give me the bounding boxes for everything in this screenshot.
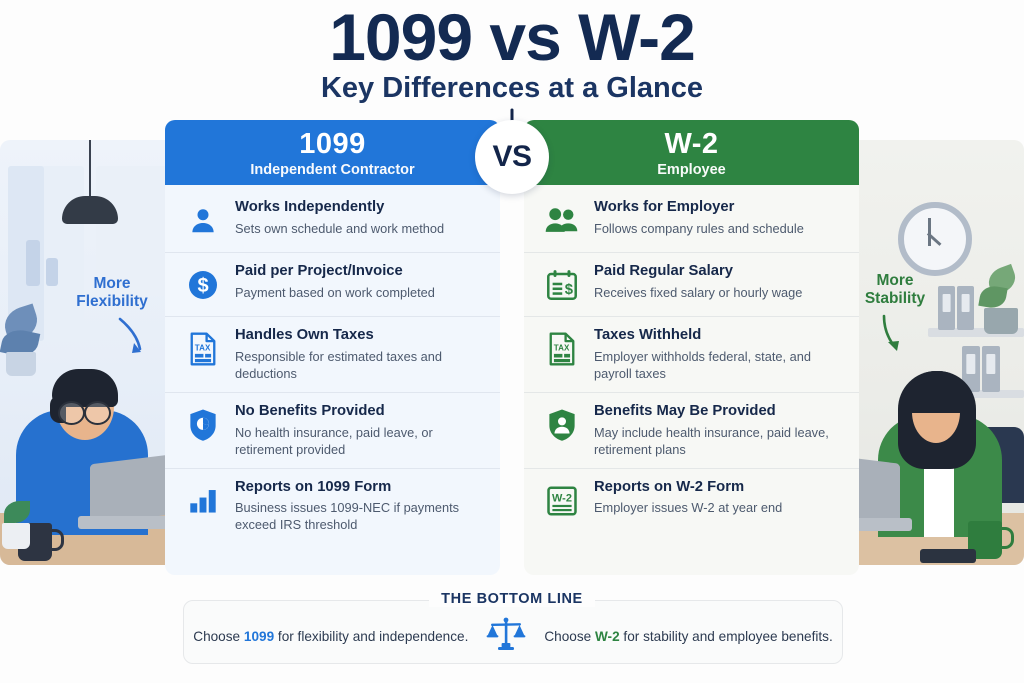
list-item-desc: Business issues 1099-NEC if payments exc… — [235, 499, 486, 533]
list-item[interactable]: Reports on 1099 Form Business issues 109… — [165, 468, 500, 544]
svg-text:W-2: W-2 — [552, 492, 572, 504]
column-role: Employee — [657, 162, 726, 178]
list-item-title: Reports on W-2 Form — [594, 479, 845, 497]
column-header-w2: W-2 Employee — [524, 120, 859, 185]
title-block: 1099 vs W-2 Key Differences at a Glance — [0, 4, 1024, 105]
column-role: Independent Contractor — [250, 162, 414, 178]
annotation-more-stability: More Stability — [845, 272, 945, 308]
arrow-down-left-icon — [112, 315, 152, 359]
feature-list-w2: Works for Employer Follows company rules… — [524, 185, 859, 575]
list-item[interactable]: TAX Taxes Withheld Employer withholds fe… — [524, 316, 859, 392]
svg-text:TAX: TAX — [554, 344, 570, 353]
column-header-1099: 1099 Independent Contractor — [165, 120, 500, 185]
feature-list-1099: Works Independently Sets own schedule an… — [165, 185, 500, 575]
list-item-title: Benefits May Be Provided — [594, 403, 845, 421]
list-item-title: Works Independently — [235, 199, 486, 217]
list-item-title: Paid per Project/Invoice — [235, 263, 486, 281]
column-1099: 1099 Independent Contractor Works Indepe… — [165, 120, 500, 575]
annotation-more-flexibility: More Flexibility — [62, 275, 162, 311]
vs-label: VS — [492, 140, 531, 174]
list-item-title: Reports on 1099 Form — [235, 479, 486, 497]
vs-badge: VS — [475, 120, 549, 194]
list-item[interactable]: No Benefits Provided No health insurance… — [165, 392, 500, 468]
binder-icon — [957, 286, 974, 330]
list-item-title: Works for Employer — [594, 199, 845, 217]
highlight-w2: W-2 — [595, 629, 620, 644]
list-item[interactable]: $ Paid per Project/Invoice Payment based… — [165, 252, 500, 316]
dollar-circle-icon: $ — [181, 264, 225, 306]
illustration-employee — [846, 140, 1024, 565]
page-subtitle: Key Differences at a Glance — [0, 73, 1024, 105]
list-item[interactable]: W-2 Reports on W-2 Form Employer issues … — [524, 468, 859, 532]
infographic-canvas: 1099 vs W-2 Key Differences at a Glance — [0, 0, 1024, 683]
tax-document-icon: TAX — [181, 328, 225, 370]
list-item[interactable]: Works for Employer Follows company rules… — [524, 189, 859, 252]
bottom-line-heading: THE BOTTOM LINE — [183, 590, 841, 608]
list-item-desc: Employer withholds federal, state, and p… — [594, 348, 845, 382]
svg-text:$: $ — [565, 282, 574, 298]
scales-icon — [486, 614, 526, 659]
list-item-desc: Employer issues W-2 at year end — [594, 499, 845, 516]
two-people-icon — [540, 200, 584, 242]
list-item-title: Handles Own Taxes — [235, 327, 486, 345]
list-item-title: Paid Regular Salary — [594, 263, 845, 281]
lamp-cord-icon — [89, 140, 91, 198]
arrow-down-right-icon — [878, 313, 918, 357]
list-item-desc: Sets own schedule and work method — [235, 220, 486, 237]
person-icon — [181, 200, 225, 242]
svg-text:TAX: TAX — [195, 344, 211, 353]
column-code: W-2 — [664, 130, 718, 159]
list-item-desc: Responsible for estimated taxes and dedu… — [235, 348, 486, 382]
list-item-title: Taxes Withheld — [594, 327, 845, 345]
shield-person-icon — [540, 404, 584, 446]
list-item[interactable]: Benefits May Be Provided May include hea… — [524, 392, 859, 468]
highlight-1099: 1099 — [244, 629, 274, 644]
svg-text:$: $ — [197, 275, 208, 297]
list-item[interactable]: TAX Handles Own Taxes Responsible for es… — [165, 316, 500, 392]
page-title: 1099 vs W-2 — [0, 4, 1024, 71]
bottom-line-right: Choose W-2 for stability and employee be… — [544, 629, 832, 644]
list-item-desc: No health insurance, paid leave, or reti… — [235, 424, 486, 458]
shield-no-benefits-icon — [181, 404, 225, 446]
w2-form-icon: W-2 — [540, 480, 584, 522]
list-item-desc: Payment based on work completed — [235, 284, 486, 301]
bar-chart-icon — [181, 480, 225, 522]
calendar-dollar-icon: $ — [540, 264, 584, 306]
list-item-desc: Follows company rules and schedule — [594, 220, 845, 237]
column-code: 1099 — [299, 130, 366, 159]
list-item-title: No Benefits Provided — [235, 403, 486, 421]
bottom-line-left: Choose 1099 for flexibility and independ… — [193, 629, 468, 644]
tax-document-icon: TAX — [540, 328, 584, 370]
list-item[interactable]: $ Paid Regular Salary Receives fixed sal… — [524, 252, 859, 316]
list-item-desc: May include health insurance, paid leave… — [594, 424, 845, 458]
list-item[interactable]: Works Independently Sets own schedule an… — [165, 189, 500, 252]
column-w2: W-2 Employee Works for Employer Follows … — [524, 120, 859, 575]
bottom-line-panel: Choose 1099 for flexibility and independ… — [183, 600, 843, 664]
list-item-desc: Receives fixed salary or hourly wage — [594, 284, 845, 301]
